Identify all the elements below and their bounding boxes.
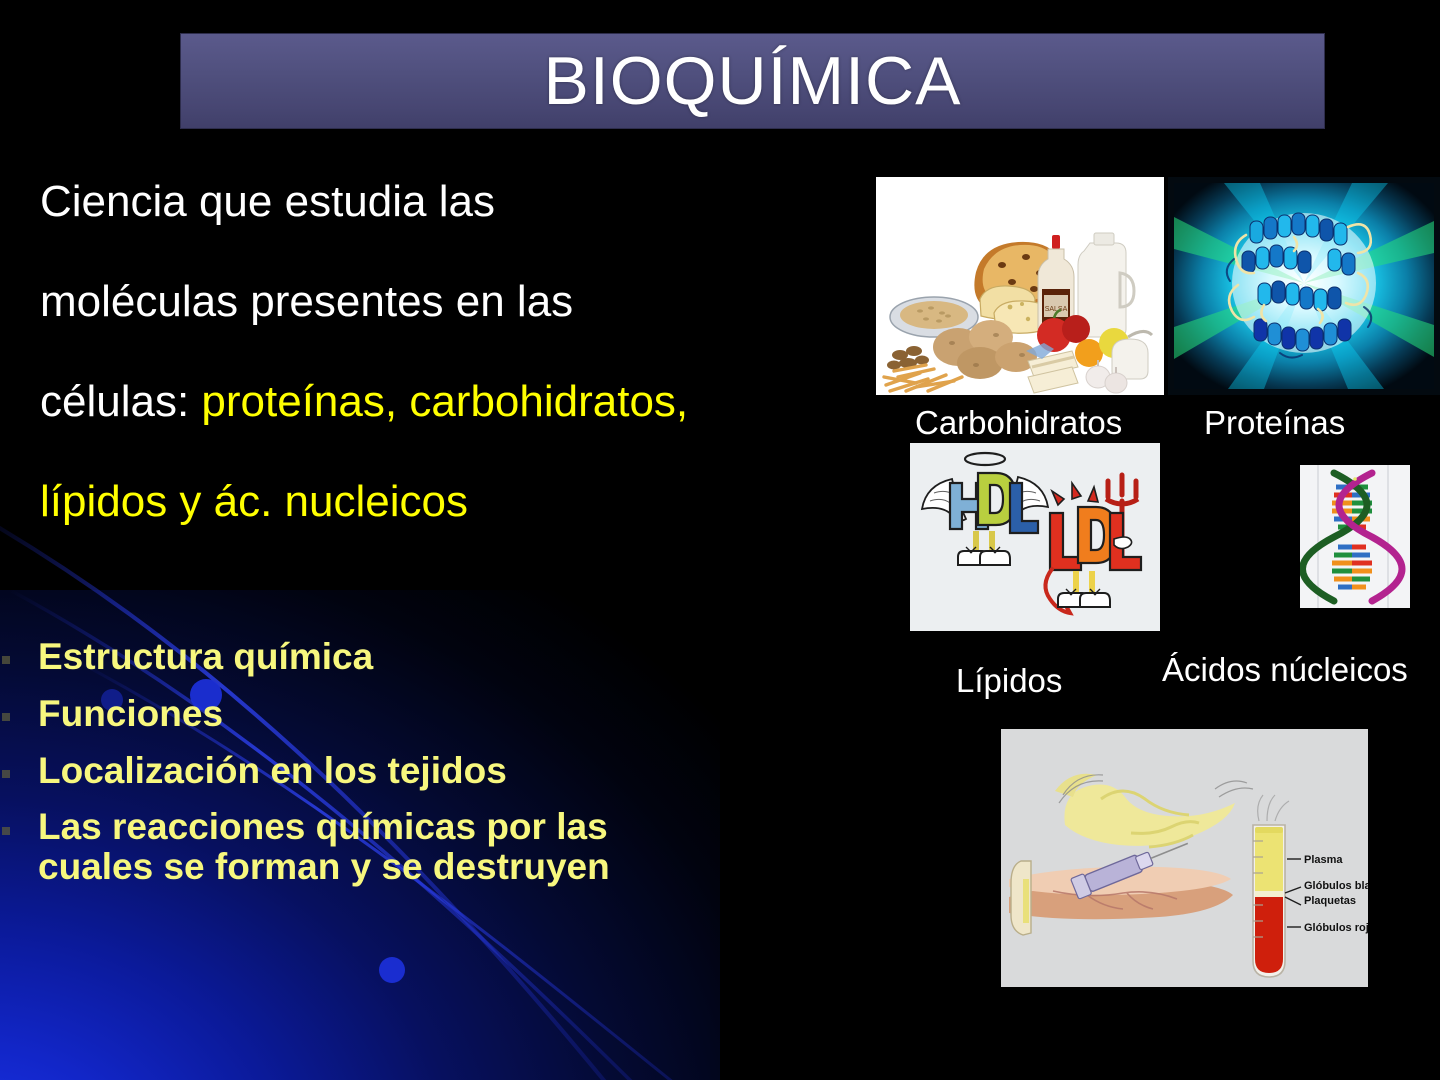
title-bar: BIOQUÍMICA	[180, 33, 1325, 129]
definition-line-3-highlight: proteínas, carbohidratos,	[201, 377, 688, 426]
proteins-caption: Proteínas	[1204, 404, 1345, 442]
nucleic-acids-image	[1300, 465, 1410, 608]
carbohydrates-caption: Carbohidratos	[915, 404, 1122, 442]
list-item: Las reacciones químicas por las cuales s…	[0, 807, 830, 887]
label-white-cells: Glóbulos blancos	[1304, 880, 1368, 892]
label-red-cells: Glóbulos rojos	[1304, 922, 1368, 934]
proteins-image	[1168, 177, 1440, 395]
page-title: BIOQUÍMICA	[180, 33, 1325, 129]
lipids-caption: Lípidos	[956, 662, 1062, 700]
bullet-icon	[2, 770, 10, 778]
list-item-label: Localización en los tejidos	[38, 750, 830, 792]
slide-canvas: BIOQUÍMICA Ciencia que estudia las moléc…	[0, 0, 1440, 1080]
list-item: Localización en los tejidos	[0, 750, 830, 792]
nucleic-acids-caption: Ácidos núcleicos	[1162, 651, 1408, 689]
list-item: Funciones	[0, 693, 830, 735]
bullet-icon	[2, 713, 10, 721]
label-plasma: Plasma	[1304, 854, 1343, 866]
definition-line-2: moléculas presentes en las	[40, 252, 890, 352]
definition-line-3: células: proteínas, carbohidratos,	[40, 352, 890, 452]
list-item-label-continued: cuales se forman y se destruyen	[38, 847, 830, 887]
definition-line-3-prefix: células:	[40, 377, 201, 426]
list-item-label: Las reacciones químicas por las	[38, 807, 830, 847]
carbohydrates-image: SALSA	[876, 177, 1164, 395]
bullet-icon	[2, 827, 10, 835]
bullet-icon	[2, 656, 10, 664]
label-platelets: Plaquetas	[1304, 895, 1356, 907]
lipids-image	[910, 443, 1160, 631]
list-item: Estructura química	[0, 636, 830, 678]
list-item-label: Estructura química	[38, 636, 830, 678]
topics-list: Estructura química Funciones Localizació…	[0, 636, 830, 887]
definition-line-4-highlight: lípidos y ác. nucleicos	[40, 452, 890, 552]
definition-line-1: Ciencia que estudia las	[40, 152, 890, 252]
definition-paragraph: Ciencia que estudia las moléculas presen…	[40, 152, 890, 552]
blood-components-image: Plasma Glóbulos blancos Plaquetas Glóbul…	[1001, 729, 1368, 987]
list-item-label: Funciones	[38, 693, 830, 735]
